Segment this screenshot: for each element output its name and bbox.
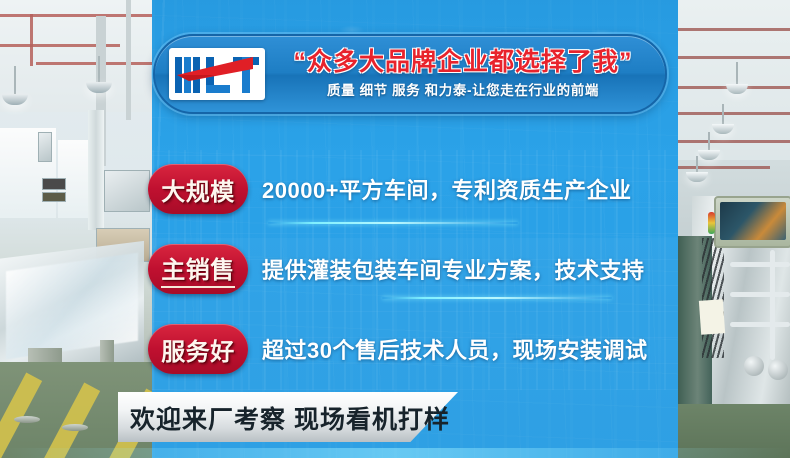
feature-row: 服务好 超过30个售后技术人员，现场安装调试	[148, 320, 678, 378]
feature-badge: 服务好	[148, 324, 248, 374]
header-plaque: “众多大品牌企业都选择了我” 质量 细节 服务 和力泰-让您走在行业的前端	[153, 34, 667, 114]
feature-badge-label: 大规模	[161, 172, 235, 207]
feature-list: 大规模 20000+平方车间，专利资质生产企业 主销售 提供灌装包装车间专业方案…	[148, 160, 678, 378]
feature-text: 超过30个售后技术人员，现场安装调试	[262, 333, 647, 365]
feature-row: 大规模 20000+平方车间，专利资质生产企业	[148, 160, 678, 218]
feature-badge-label: 服务好	[161, 332, 235, 367]
header-headline: “众多大品牌企业都选择了我”	[293, 49, 632, 77]
cta-text: 欢迎来厂考察 现场看机打样	[130, 400, 460, 436]
hlt-logo	[169, 48, 265, 100]
feature-badge: 主销售	[148, 244, 248, 294]
feature-badge: 大规模	[148, 164, 248, 214]
header-subtitle: 质量 细节 服务 和力泰-让您走在行业的前端	[327, 79, 599, 99]
feature-text: 20000+平方车间，专利资质生产企业	[262, 173, 632, 205]
feature-badge-label: 主销售	[161, 250, 235, 288]
feature-text: 提供灌装包装车间专业方案，技术支持	[262, 253, 645, 285]
separator-line	[268, 222, 518, 224]
hlt-logo-mark	[175, 55, 259, 95]
separator-line	[382, 297, 612, 299]
feature-row: 主销售 提供灌装包装车间专业方案，技术支持	[148, 240, 678, 298]
bottom-glow	[0, 448, 790, 458]
promo-banner: “众多大品牌企业都选择了我” 质量 细节 服务 和力泰-让您走在行业的前端 大规…	[0, 0, 790, 458]
bottom-bar: 欢迎来厂考察 现场看机打样 133-0224-7177 139-2585-581…	[0, 380, 790, 458]
